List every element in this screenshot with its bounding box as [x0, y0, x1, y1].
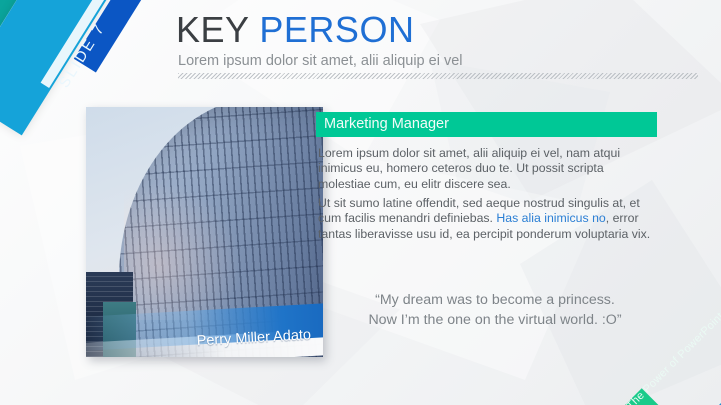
role-title-bar: Marketing Manager: [316, 112, 657, 137]
person-photo: Perry Miller Adato: [86, 107, 323, 357]
header-hatch-divider: [178, 73, 698, 79]
inline-link[interactable]: Has alia inimicus no: [496, 211, 605, 225]
body-paragraph-1: Lorem ipsum dolor sit amet, alii aliquip…: [318, 146, 658, 192]
photo-reflection-glow: [124, 182, 243, 320]
body-paragraph-2: Ut sit sumo latine offendit, sed aeque n…: [318, 196, 658, 242]
page-title-primary: KEY: [176, 9, 249, 50]
page-title: KEY PERSON: [176, 9, 414, 51]
pull-quote-line-1: “My dream was to become a princess.: [330, 290, 660, 310]
slide-canvas: SLIDE 7 KEY PERSON Lorem ipsum dolor sit…: [0, 0, 721, 405]
page-title-accent: PERSON: [259, 9, 414, 50]
page-subtitle: Lorem ipsum dolor sit amet, alii aliquip…: [178, 53, 463, 69]
role-title-label: Marketing Manager: [324, 116, 449, 132]
branding-ribbon-blue: [700, 396, 721, 405]
pull-quote-line-2: Now I’m the one on the virtual world. :O…: [330, 310, 660, 330]
pull-quote: “My dream was to become a princess. Now …: [330, 290, 660, 330]
